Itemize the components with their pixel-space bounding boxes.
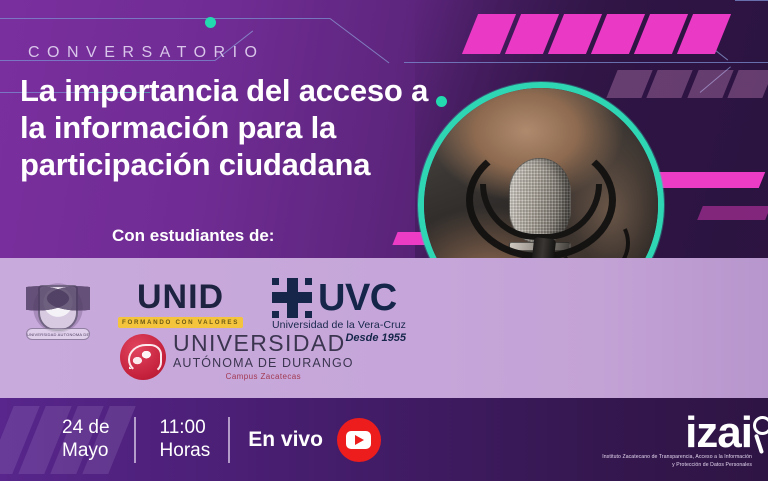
uad-line1: UNIVERSIDAD (173, 332, 354, 355)
unid-wordmark: UNID (118, 280, 243, 314)
magnifier-handle-icon (753, 434, 763, 454)
page-title: La importancia del acceso a la informaci… (20, 72, 440, 184)
uad-wolf-icon (120, 334, 166, 380)
uad-text-lockup: UNIVERSIDAD AUTÓNOMA DE DURANGO Campus Z… (173, 332, 354, 381)
uad-campus: Campus Zacatecas (173, 372, 354, 381)
event-date-line1: 24 de (62, 417, 110, 439)
decor-line-right2 (735, 0, 768, 1)
event-date: 24 de Mayo (62, 417, 110, 462)
sponsor-logos-strip: UNIVERSIDAD AUTONOMA DE ZACATECAS UNID F… (0, 258, 768, 398)
decor-parallelogram-1 (649, 172, 765, 188)
uvc-lockup: UVC (272, 278, 406, 318)
event-kicker: CONVERSATORIO (28, 44, 264, 62)
live-label: En vivo (248, 428, 323, 452)
decor-line-top (0, 18, 330, 19)
footer-divider-1 (134, 417, 136, 463)
play-triangle-icon (355, 435, 364, 445)
logo-universidad-autonoma-durango: UNIVERSIDAD AUTÓNOMA DE DURANGO Campus Z… (120, 332, 354, 381)
magnifier-icon (753, 416, 768, 435)
event-poster: CONVERSATORIO La importancia del acceso … (0, 0, 768, 481)
footer-bar: 24 de Mayo 11:00 Horas En vivo izai Inst… (0, 398, 768, 481)
logo-unid: UNID FORMANDO CON VALORES (118, 280, 243, 328)
event-time-line1: 11:00 (160, 417, 211, 439)
event-time: 11:00 Horas (160, 417, 211, 462)
event-time-line2: Horas (160, 440, 211, 462)
decor-parallelogram-4 (697, 206, 768, 220)
izai-logo: izai Instituto Zacatecano de Transparenc… (602, 414, 752, 469)
uaz-shield-icon: UNIVERSIDAD AUTONOMA DE ZACATECAS (22, 272, 94, 344)
decor-dot-teal (205, 17, 216, 28)
logo-universidad-autonoma-zacatecas: UNIVERSIDAD AUTONOMA DE ZACATECAS (22, 272, 94, 344)
decor-diagonal-1 (330, 18, 390, 63)
unid-tagline: FORMANDO CON VALORES (118, 317, 243, 328)
event-date-line2: Mayo (62, 440, 110, 462)
decor-line-right (404, 62, 768, 63)
uad-line2: AUTÓNOMA DE DURANGO (173, 356, 354, 370)
uvc-wordmark: UVC (318, 281, 397, 315)
participants-label: Con estudiantes de: (112, 226, 274, 246)
decor-stripes-dim (612, 70, 768, 98)
footer-divider-2 (228, 417, 230, 463)
youtube-icon-body (346, 431, 371, 449)
youtube-icon[interactable] (337, 418, 381, 462)
jerusalem-cross-icon (272, 278, 312, 318)
izai-tagline-line2: y Protección de Datos Personales (602, 462, 752, 469)
uaz-ribbon-text: UNIVERSIDAD AUTONOMA DE ZACATECAS (26, 328, 90, 340)
decor-stripes-magenta (470, 14, 768, 54)
izai-wordmark: izai (685, 414, 752, 452)
